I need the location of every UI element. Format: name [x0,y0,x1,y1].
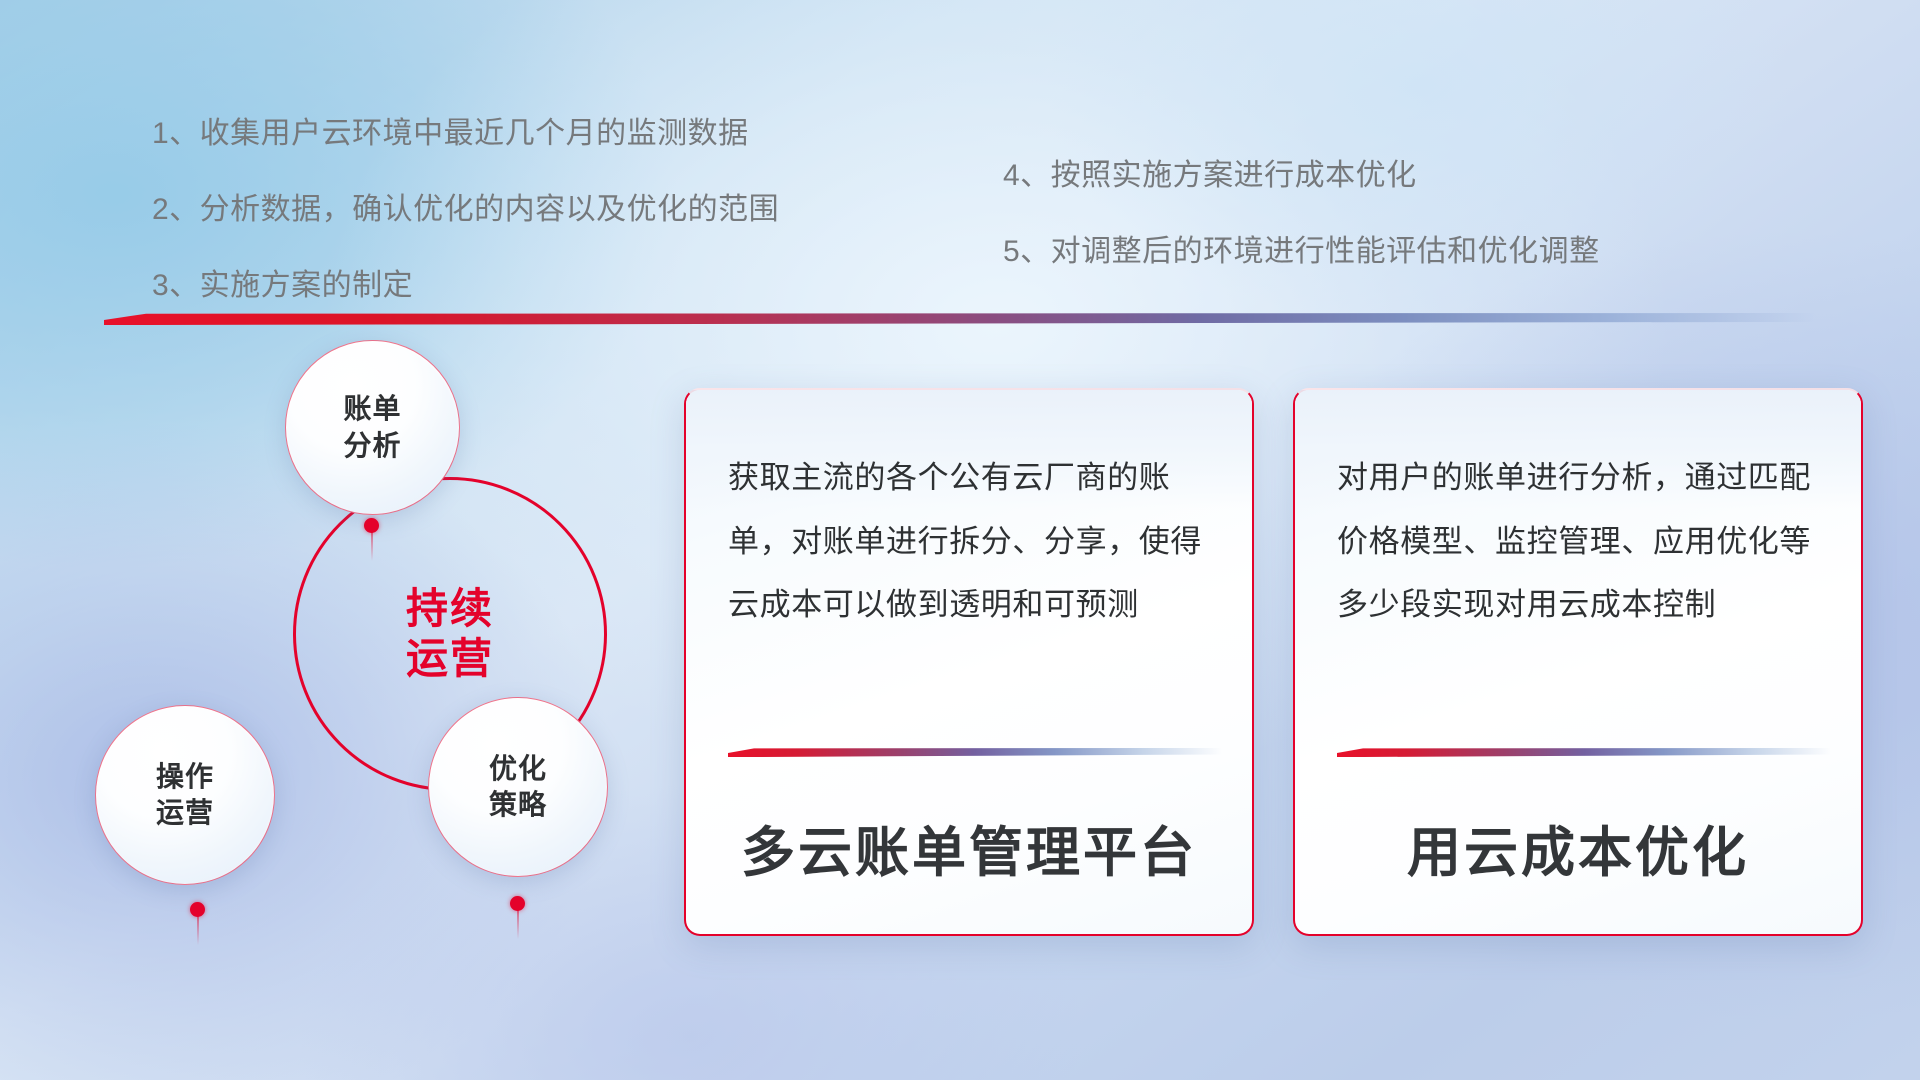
diagram-dot-top [364,518,379,533]
card-1-title: 多云账单管理平台 [686,808,1252,887]
diagram-stem-left [197,915,199,945]
card-2-divider [1337,748,1831,757]
center-ring-label-line2: 运营 [406,634,494,684]
diagram-node-bill-analysis[interactable]: 账单 分析 [285,340,460,515]
step-item-5: 5、对调整后的环境进行性能评估和优化调整 [1003,226,1600,270]
card-multicloud-bill-platform[interactable]: 获取主流的各个公有云厂商的账单，对账单进行拆分、分享，使得云成本可以做到透明和可… [684,388,1254,936]
section-divider-bar [104,313,1816,325]
diagram-node-optimization-strategy-line2: 策略 [489,787,547,823]
diagram-node-bill-analysis-line1: 账单 [343,391,401,427]
card-1-divider [728,748,1222,757]
diagram-node-bill-analysis-line2: 分析 [343,428,401,464]
diagram-stem-right [517,909,519,939]
continuous-operation-diagram: 持续 运营 账单 分析 操作 运营 优化 策略 [105,345,665,955]
card-cloud-cost-optimization[interactable]: 对用户的账单进行分析，通过匹配价格模型、监控管理、应用优化等多少段实现对用云成本… [1293,388,1863,936]
diagram-dot-right [510,896,525,911]
card-2-divider-bar [1337,748,1831,757]
card-2-body: 对用户的账单进行分析，通过匹配价格模型、监控管理、应用优化等多少段实现对用云成本… [1337,446,1827,637]
card-1-divider-bar [728,748,1222,757]
diagram-node-operation-line1: 操作 [156,759,214,795]
section-divider [104,313,1816,325]
steps-list-right: 4、按照实施方案进行成本优化 5、对调整后的环境进行性能评估和优化调整 [1003,150,1600,302]
card-1-body: 获取主流的各个公有云厂商的账单，对账单进行拆分、分享，使得云成本可以做到透明和可… [728,446,1218,637]
step-item-1: 1、收集用户云环境中最近几个月的监测数据 [152,108,779,152]
steps-list-left: 1、收集用户云环境中最近几个月的监测数据 2、分析数据，确认优化的内容以及优化的… [152,108,779,336]
center-ring-label-line1: 持续 [406,584,494,634]
card-2-title: 用云成本优化 [1295,808,1861,887]
step-item-4: 4、按照实施方案进行成本优化 [1003,150,1600,194]
diagram-node-operation-line2: 运营 [156,795,214,831]
diagram-stem-top [371,531,373,561]
diagram-dot-left [190,902,205,917]
diagram-node-optimization-strategy-line1: 优化 [489,751,547,787]
step-item-2: 2、分析数据，确认优化的内容以及优化的范围 [152,184,779,228]
diagram-node-optimization-strategy[interactable]: 优化 策略 [428,697,608,877]
step-item-3: 3、实施方案的制定 [152,260,779,304]
diagram-node-operation[interactable]: 操作 运营 [95,705,275,885]
